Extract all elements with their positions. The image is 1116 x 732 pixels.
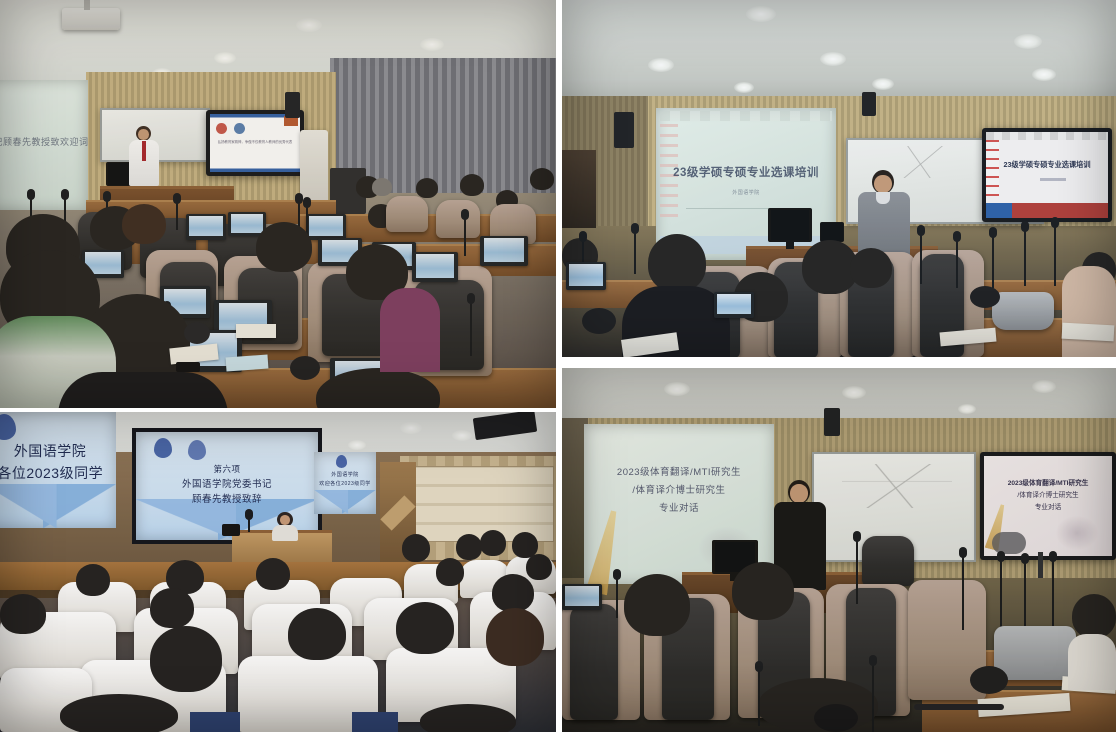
attendee-head xyxy=(480,530,506,556)
whiteboard-scribble xyxy=(842,464,952,508)
ceiling-light xyxy=(648,58,674,72)
ceiling-light xyxy=(1032,380,1056,393)
gooseneck-microphone xyxy=(634,230,636,274)
ceiling-light xyxy=(872,78,894,90)
slide-logo-right-icon xyxy=(188,440,206,460)
ppt-logo-left-icon xyxy=(216,123,227,134)
wall-speaker xyxy=(862,92,876,116)
smartphone xyxy=(176,362,200,372)
attendee-head xyxy=(436,558,464,586)
projector-mount xyxy=(84,0,90,10)
wall-speaker xyxy=(824,408,840,436)
conference-terminal xyxy=(186,214,226,240)
gooseneck-microphone xyxy=(464,216,466,256)
ceiling-light xyxy=(348,440,366,450)
gooseneck-microphone xyxy=(1054,224,1056,286)
slide-line-2: 外国语学院党委书记 xyxy=(136,478,318,491)
wall-tv-display: 2023级体育翻译/MTI研究生 /体育译介博士研究生 专业对话 xyxy=(980,452,1116,560)
ceiling-light xyxy=(664,382,690,396)
headphones xyxy=(184,322,210,344)
tv-screen: 23级学硕专硕专业选课培训 xyxy=(986,132,1108,218)
photo-panel-bottom-left: 第六项 外国语学院党委书记 顾春先教授致辞 外国语学院 迎各位2023级同学 外… xyxy=(0,412,556,732)
attendee-head xyxy=(526,554,552,580)
acoustic-panels xyxy=(412,466,554,542)
tv-stand xyxy=(1038,552,1043,578)
wall-speaker xyxy=(285,92,300,118)
photo-collage: 书记顾春先教授致欢迎词 弘扬教育家精神，争做不仅教育人教师的优秀代表 xyxy=(0,0,1116,732)
ceiling-light xyxy=(452,430,472,441)
conference-terminal xyxy=(714,292,754,318)
headphones xyxy=(290,356,320,380)
foreground-head xyxy=(288,608,346,660)
gooseneck-microphone xyxy=(956,238,958,288)
ppt-ribbon-strip xyxy=(660,111,832,121)
attendee-head xyxy=(648,234,706,292)
ceiling-light xyxy=(746,6,776,22)
foreground-head xyxy=(122,204,166,244)
projection-screen-text: 书记顾春先教授致欢迎词 xyxy=(0,136,89,148)
attendee-head xyxy=(624,574,690,636)
chair xyxy=(386,196,428,232)
lectern-monitor xyxy=(768,208,812,242)
attendee-head xyxy=(492,574,534,612)
attendee-head xyxy=(0,594,46,634)
foreground-head xyxy=(150,626,222,692)
slide-line-3: 顾春先教授致辞 xyxy=(136,493,318,506)
ppt-ribbon-strip xyxy=(986,132,1108,140)
tv-screen-title: 23级学硕专硕专业选课培训 xyxy=(991,160,1103,170)
notebook xyxy=(226,355,269,372)
ceiling-light xyxy=(400,422,422,434)
foreground-figure xyxy=(1062,266,1116,357)
attendee-head xyxy=(402,534,430,562)
photo-panel-top-right: 23级学硕专硕专业选课培训 外国语学院 23级学硕专硕专业选课培训 xyxy=(562,0,1116,357)
ceiling-light xyxy=(734,82,754,93)
gooseneck-microphone xyxy=(1000,558,1002,636)
ceiling-light xyxy=(296,18,322,32)
chair xyxy=(570,604,618,720)
tv-screen-text: 弘扬教育家精神，争做不仅教育人教师的优秀代表 xyxy=(214,140,297,145)
ceiling-light xyxy=(1014,34,1042,49)
slide-line-3: 专业对话 xyxy=(584,502,774,515)
foreground-head xyxy=(486,608,544,666)
necktie xyxy=(142,141,146,161)
projection-screen-right: 外国语学院 欢迎各位2023级同学 xyxy=(314,452,376,514)
door xyxy=(562,150,596,228)
slide-line-2: 迎各位2023级同学 xyxy=(0,464,116,483)
attendee-head xyxy=(416,178,438,198)
slide-line-2: 欢迎各位2023级同学 xyxy=(314,481,376,488)
tissue-box xyxy=(236,324,276,338)
chair xyxy=(436,200,480,238)
headphones xyxy=(814,704,858,732)
gooseneck-microphone xyxy=(616,576,618,618)
presenter xyxy=(126,126,162,192)
gooseneck-microphone xyxy=(248,516,250,532)
ppt-subtitle-line xyxy=(1040,178,1066,181)
scene-seminar-room: 书记顾春先教授致欢迎词 弘扬教育家精神，争做不仅教育人教师的优秀代表 xyxy=(0,0,556,408)
gooseneck-microphone xyxy=(962,554,964,630)
attendee-head xyxy=(372,178,392,196)
conference-terminal xyxy=(306,214,346,240)
ppt-logo-right-icon xyxy=(234,123,245,134)
slide-mountain-graphic xyxy=(314,490,376,514)
foreground-torso xyxy=(380,288,440,372)
foreground-head xyxy=(256,222,312,272)
office-chair xyxy=(862,536,914,586)
foreground-head xyxy=(60,694,178,732)
headphones xyxy=(582,308,616,334)
conference-terminal xyxy=(566,262,606,290)
cable xyxy=(914,704,1004,710)
attendee-head xyxy=(732,562,794,620)
ppt-footer-accent xyxy=(986,203,1012,218)
projection-screen-left: 书记顾春先教授致欢迎词 xyxy=(0,80,88,210)
attendee-head xyxy=(530,168,554,190)
attendee-head xyxy=(76,564,110,596)
tv-line-2: /体育译介博士研究生 xyxy=(989,492,1107,501)
shirt-collar xyxy=(876,192,890,204)
projection-screen-title: 23级学硕专硕专业选课培训 xyxy=(656,166,836,182)
attendee-head xyxy=(256,558,290,590)
conference-terminal xyxy=(562,584,602,610)
slide-logo-icon xyxy=(0,414,16,440)
handbag xyxy=(992,292,1054,330)
gooseneck-microphone xyxy=(856,538,858,604)
slide-pencil-graphic xyxy=(586,509,625,596)
projection-screen-left: 外国语学院 迎各位2023级同学 xyxy=(0,412,116,528)
slide-line-1: 2023级体育翻译/MTI研究生 xyxy=(584,466,774,479)
scene-auditorium-welcome: 第六项 外国语学院党委书记 顾春先教授致辞 外国语学院 迎各位2023级同学 外… xyxy=(0,412,556,732)
attendee-head xyxy=(456,534,482,560)
ceiling-projector xyxy=(62,8,120,30)
ceiling-light xyxy=(820,52,846,66)
gooseneck-microphone xyxy=(920,232,922,284)
slide-circle-graphic xyxy=(1056,516,1098,550)
foreground-figure xyxy=(1068,634,1116,690)
gooseneck-microphone xyxy=(992,234,994,288)
handbag xyxy=(994,626,1076,680)
projection-screen-subtitle: 外国语学院 xyxy=(656,190,836,197)
gooseneck-microphone xyxy=(758,668,760,726)
seat-back-blue xyxy=(352,712,398,732)
slide-logo-left-icon xyxy=(154,438,172,458)
slide-line-1: 第六项 xyxy=(136,464,318,476)
slide-mountain-graphic xyxy=(0,484,116,528)
seat-back-blue xyxy=(190,712,240,732)
slide-line-2: /体育译介博士研究生 xyxy=(584,484,774,497)
tv-screen: 2023级体育翻译/MTI研究生 /体育译介博士研究生 专业对话 xyxy=(984,456,1112,556)
foreground-head xyxy=(420,704,516,732)
ceiling-light xyxy=(958,404,976,414)
foreground-torso xyxy=(58,372,228,408)
attendee-head xyxy=(460,174,484,196)
wall-tv-display: 弘扬教育家精神，争做不仅教育人教师的优秀代表 xyxy=(206,110,304,176)
photo-panel-top-left: 书记顾春先教授致欢迎词 弘扬教育家精神，争做不仅教育人教师的优秀代表 xyxy=(0,0,556,408)
gooseneck-microphone xyxy=(176,200,178,230)
attendee-head xyxy=(850,248,892,288)
conference-terminal xyxy=(480,236,528,266)
headphones xyxy=(970,286,1000,308)
tv-line-3: 专业对话 xyxy=(989,504,1107,513)
foreground-head xyxy=(396,602,454,654)
ceiling-light xyxy=(420,38,444,51)
gooseneck-microphone xyxy=(872,662,874,732)
wall-speaker xyxy=(614,112,634,148)
slide-dark-blob xyxy=(992,532,1026,554)
ceiling-light xyxy=(1032,68,1056,81)
ceiling xyxy=(562,0,1116,102)
stage-monitor xyxy=(222,524,240,536)
headphones xyxy=(970,666,1008,694)
secondary-monitor xyxy=(820,222,844,242)
slide-line-1: 外国语学院 xyxy=(314,472,376,479)
seated-speaker xyxy=(272,512,298,538)
ceiling-light xyxy=(842,386,866,399)
attendee-head xyxy=(150,588,194,628)
scene-course-selection-training: 23级学硕专硕专业选课培训 外国语学院 23级学硕专硕专业选课培训 xyxy=(562,0,1116,357)
scene-sports-translation-dialogue: 2023级体育翻译/MTI研究生 /体育译介博士研究生 专业对话 2023级体育… xyxy=(562,368,1116,732)
wall-tv-display: 23级学硕专硕专业选课培训 xyxy=(982,128,1112,222)
attendee-head xyxy=(1072,594,1116,638)
conference-terminal xyxy=(412,252,458,282)
photo-panel-bottom-right: 2023级体育翻译/MTI研究生 /体育译介博士研究生 专业对话 2023级体育… xyxy=(562,368,1116,732)
tv-screen: 弘扬教育家精神，争做不仅教育人教师的优秀代表 xyxy=(210,114,300,172)
gooseneck-microphone xyxy=(1024,228,1026,286)
gooseneck-microphone xyxy=(470,300,472,356)
slide-logo-icon xyxy=(336,455,347,468)
tv-line-1: 2023级体育翻译/MTI研究生 xyxy=(989,480,1107,489)
papers xyxy=(1062,323,1115,342)
ceiling-light xyxy=(214,52,236,64)
slide-line-1: 外国语学院 xyxy=(0,442,116,461)
